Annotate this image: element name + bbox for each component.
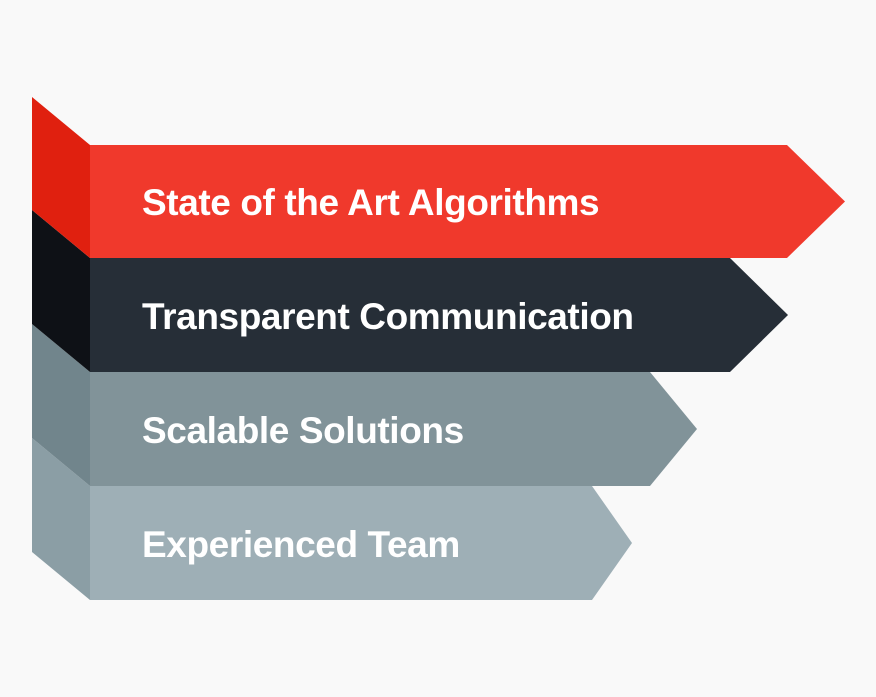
ribbon-group-state-of-the-art-algorithms[interactable] (32, 97, 845, 258)
ribbon-label-2: Transparent Communication (142, 298, 634, 335)
ribbon-label-3: Scalable Solutions (142, 412, 464, 449)
ribbon-label-1: State of the Art Algorithms (142, 184, 599, 221)
ribbon-stack-graphic (0, 0, 876, 697)
infographic-canvas: State of the Art Algorithms Transparent … (0, 0, 876, 697)
ribbon-label-4: Experienced Team (142, 526, 460, 563)
